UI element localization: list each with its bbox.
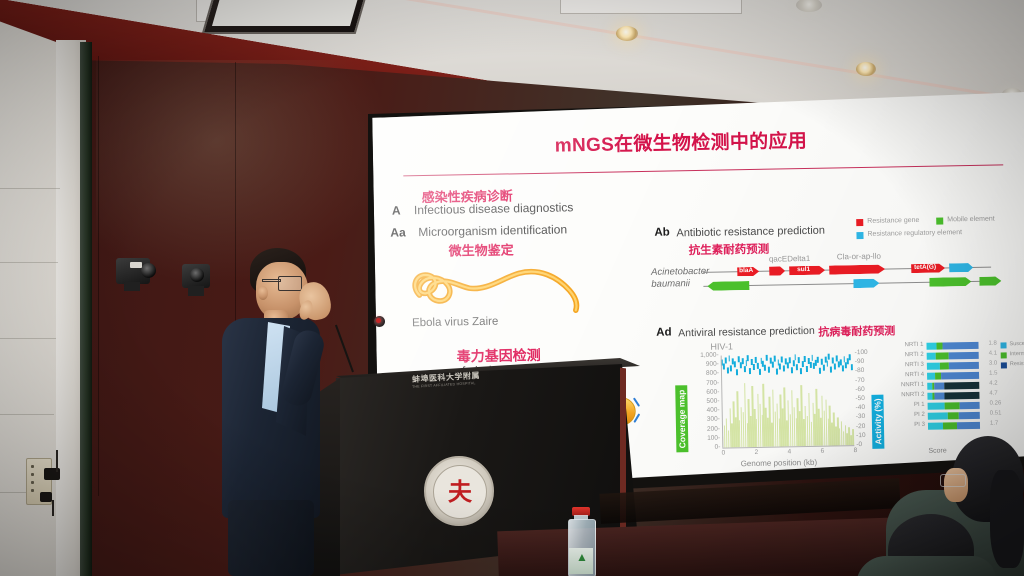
activity-point [773, 355, 775, 361]
section-aa-tag: Aa [390, 225, 406, 239]
coverage-y-tick: 300- [680, 416, 720, 424]
resistance-bar-segment [940, 362, 949, 369]
resistance-bar-segment [945, 402, 960, 409]
activity-point [843, 356, 845, 362]
coverage-y-tick: 1,000- [679, 352, 719, 360]
activity-point [781, 356, 783, 362]
activity-point [741, 358, 743, 364]
activity-y-tick: -90 [855, 358, 869, 365]
resistance-row-label: PI 1 [894, 402, 925, 409]
resistance-row-value: 3.0 [989, 361, 997, 367]
activity-y-tick: -30 [856, 413, 870, 420]
resistance-bar-segment [960, 402, 980, 409]
gene-reg-bot-1 [853, 279, 879, 288]
ebola-virus-illustration [407, 254, 588, 319]
resistance-bar-segment [934, 382, 945, 389]
audience-person-1-glasses[interactable] [940, 474, 966, 487]
activity-point [817, 356, 819, 362]
gene-cla [829, 265, 885, 275]
coverage-x-tick: 2 [751, 449, 761, 456]
activity-point [747, 355, 749, 361]
activity-point [796, 364, 798, 370]
activity-point [789, 357, 791, 363]
resistance-bar-segment [927, 373, 935, 380]
resistance-legend-swatch [1000, 342, 1006, 348]
gene-top-label-2: Cla-or-ap-llo [837, 252, 881, 262]
activity-point [849, 354, 851, 360]
activity-point [800, 369, 802, 375]
resistance-row-label: NNRTI 2 [893, 392, 924, 399]
coverage-y-tick: 200- [680, 425, 720, 433]
resistance-bar-segment [926, 343, 937, 350]
ceiling-vent-inner [212, 0, 358, 26]
legend-label-resistance-gene: Resistance gene [867, 217, 919, 225]
resistance-row-value: 1.7 [990, 421, 998, 427]
activity-point [723, 364, 725, 370]
section-ad-english: Antiviral resistance prediction [678, 325, 815, 340]
activity-point [724, 357, 726, 363]
coverage-x-tick: 8 [850, 447, 860, 454]
resistance-row-label: PI 3 [894, 422, 925, 429]
coverage-chart-title: HIV-1 [710, 341, 733, 351]
ebola-caption: Ebola virus Zaire [412, 316, 499, 330]
resistance-row-value: 1.5 [989, 371, 997, 377]
resistance-legend-label: Resistant [1010, 361, 1024, 367]
coverage-y-tick: 0- [680, 444, 720, 452]
podium-emblem-mark: 夫 [448, 472, 472, 507]
downlight-2 [856, 62, 876, 76]
wall-panel-line-2 [0, 262, 58, 263]
power-plug-2 [40, 492, 52, 502]
activity-point [759, 369, 761, 375]
gene-top-label-1: qacEDelta1 [769, 254, 811, 264]
speaker-ear [258, 286, 268, 300]
section-aa-english: Microorganism identification [418, 222, 567, 239]
resistance-bar-segment [957, 422, 980, 429]
activity-point [823, 364, 825, 370]
bottle-logo-icon: ▲ [576, 550, 588, 564]
resistance-bar-xlabel: Score [928, 447, 946, 454]
activity-point [727, 367, 729, 373]
activity-y-tick: -40 [856, 404, 870, 411]
activity-point [811, 355, 813, 361]
activity-point [745, 360, 747, 366]
section-a-tag: A [392, 203, 401, 217]
coverage-y-tick: 600- [679, 388, 719, 396]
coverage-x-axis-label: Genome position (kb) [741, 458, 818, 468]
activity-point [830, 366, 832, 372]
activity-point [755, 357, 757, 363]
resistance-bar-segment [928, 412, 948, 419]
resistance-row-label: NRTI 1 [892, 342, 923, 349]
wall-camera-left-mount [124, 282, 140, 291]
resistance-bar-segment [949, 362, 979, 370]
activity-y-tick: -50 [855, 395, 869, 402]
activity-point [730, 365, 732, 371]
coverage-y-tick: 100- [680, 434, 720, 442]
slide-title: mNGS在微生物检测中的应用 [555, 126, 808, 158]
activity-point [738, 356, 740, 362]
resistance-legend-swatch [1001, 352, 1007, 358]
activity-point [772, 362, 774, 368]
resistance-bar-segment [943, 342, 979, 350]
activity-point [851, 364, 853, 370]
outlet-hole-1 [31, 465, 34, 468]
activity-point [802, 361, 804, 367]
coverage-y-tick: 500- [679, 398, 719, 406]
section-ab-chinese: 抗生素耐药预测 [689, 241, 770, 258]
gene-blaA-label: blaA [739, 267, 753, 274]
ceiling-panel-right [560, 0, 742, 14]
resistance-row-label: NRTI 2 [893, 352, 924, 359]
resistance-row-value: 1.8 [988, 341, 996, 347]
resistance-row-label: NRTI 4 [893, 372, 924, 379]
outlet-hole-2 [31, 473, 34, 476]
speaker-glasses-arm [262, 279, 281, 282]
section-ab-english: Antibiotic resistance prediction [676, 225, 825, 240]
activity-point [749, 368, 751, 374]
activity-y-axis-label: Activity (%) [871, 394, 884, 449]
resistance-bar-segment [947, 412, 959, 419]
power-cable-1 [56, 450, 58, 472]
resistance-legend-label: Susceptible [1009, 341, 1024, 348]
activity-point [804, 356, 806, 362]
resistance-bar-segment [945, 382, 980, 390]
gene-sul1-label: sul1 [797, 266, 810, 273]
wall-camera-right-mount [188, 286, 204, 296]
activity-point [794, 354, 796, 360]
resistance-row-label: NRTI 3 [893, 362, 924, 369]
activity-point [791, 367, 793, 373]
activity-y-tick: -60 [855, 386, 869, 393]
wall-seam-2 [98, 56, 99, 496]
activity-point [764, 365, 766, 371]
activity-point [728, 355, 730, 361]
activity-point [766, 355, 768, 361]
coverage-y-tick: 400- [680, 407, 720, 415]
section-a-english: Infectious disease diagnostics [414, 200, 574, 217]
coverage-x-tick: 4 [784, 448, 794, 455]
activity-y-ticks: -100-90-80-70-60-50-40-30-20-10-0 [672, 341, 886, 345]
activity-point [826, 361, 828, 367]
door-jamb [80, 42, 92, 576]
power-cable-2 [52, 500, 54, 516]
resistance-legend-swatch [1001, 362, 1007, 368]
resistance-bar-segment [936, 352, 949, 359]
organism-name-line1: Acinetobacter [651, 266, 709, 278]
activity-point [783, 365, 785, 371]
section-ab-tag: Ab [654, 226, 670, 238]
legend-swatch-regulatory [856, 232, 863, 239]
wall-camera-right-lens [190, 268, 204, 282]
coverage-y-tick: 700- [679, 379, 719, 387]
coverage-plot-area [721, 353, 855, 447]
microphone-indicator [376, 318, 381, 323]
resistance-legend-label: Intermediate [1010, 351, 1024, 358]
activity-y-tick: -100 [855, 349, 869, 356]
resistance-row-value: 4.1 [989, 351, 997, 357]
outlet-hole-3 [31, 481, 34, 484]
legend-swatch-resistance-gene [856, 219, 863, 226]
activity-point [768, 366, 770, 372]
resistance-bar-segment [945, 392, 980, 400]
coverage-chart: HIV-1 Coverage map Activity (%) 1,000-90… [672, 341, 888, 471]
activity-point [787, 362, 789, 368]
gene-mobile-1 [707, 281, 749, 291]
resistance-bar-segment [959, 412, 980, 419]
activity-point [792, 360, 794, 366]
gene-tetAG-label: tetA(G) [914, 264, 936, 271]
activity-point [842, 365, 844, 371]
legend-label-mobile-element: Mobile element [947, 216, 995, 224]
gene-mobile-3 [979, 276, 1001, 285]
activity-point [736, 369, 738, 375]
resistance-bar-segment [934, 392, 945, 399]
activity-point [753, 364, 755, 370]
activity-line [721, 353, 855, 447]
legend-swatch-mobile-element [936, 217, 943, 224]
resistance-bar-segment [928, 402, 946, 409]
coverage-x-ticks: 02468 [672, 341, 886, 345]
wall-camera-left-label [130, 262, 142, 268]
resistance-bar-segment [949, 352, 979, 360]
resistance-row-value: 0.51 [990, 410, 1002, 416]
activity-point [743, 366, 745, 372]
activity-point [776, 368, 778, 374]
activity-point [757, 363, 759, 369]
gene-qac [769, 266, 785, 275]
coverage-y-tick: 900- [679, 361, 719, 369]
activity-point [734, 361, 736, 367]
audience-person-1-hair [990, 470, 1024, 568]
outlet-hole-4 [31, 489, 34, 492]
activity-y-tick: -20 [856, 422, 870, 429]
section-ad-tag: Ad [656, 326, 672, 338]
activity-point [798, 358, 800, 364]
section-ad-chinese: 抗病毒耐药预测 [818, 322, 895, 339]
coverage-y-ticks: 1,000-900-800-700-600-500-400-300-200-10… [672, 341, 886, 345]
downlight-1 [616, 26, 638, 41]
resistance-row-label: NNRTI 1 [893, 382, 924, 389]
organism-name-line2: baumanii [651, 278, 690, 290]
resistance-row-label: PI 2 [894, 412, 925, 419]
coverage-x-tick: 6 [817, 448, 827, 455]
gene-mobile-2 [929, 277, 971, 287]
title-underline [403, 164, 1003, 176]
resistance-row-value: 4.7 [989, 391, 997, 397]
resistance-bar-segment [927, 353, 936, 360]
wall-panel-line-4 [0, 414, 54, 415]
activity-point [806, 366, 808, 372]
ceiling-vent [202, 0, 369, 34]
activity-y-tick: -70 [855, 376, 869, 383]
legend-label-regulatory: Resistance regulatory element [867, 229, 962, 238]
wall-panel-line-3 [0, 338, 56, 339]
activity-y-tick: -10 [856, 432, 870, 439]
speaker-glasses-lens [278, 276, 302, 291]
resistance-bar-segment [927, 363, 940, 370]
activity-point [834, 363, 836, 369]
wall-panel-line-1 [0, 188, 60, 189]
activity-point [819, 367, 821, 373]
activity-y-tick: -80 [855, 367, 869, 374]
activity-point [836, 355, 838, 361]
audience-person-2-shoulder [856, 556, 996, 576]
speaker-trousers [228, 500, 314, 576]
resistance-bar-segment [941, 372, 979, 380]
activity-point [779, 363, 781, 369]
resistance-row-value: 0.26 [990, 400, 1002, 406]
lecture-hall-photo: mNGS在微生物检测中的应用 感染性疾病诊断 A Infectious dise… [0, 0, 1024, 576]
activity-point [828, 354, 830, 360]
coverage-x-tick: 0 [718, 449, 728, 456]
gene-reg-top [949, 263, 973, 272]
activity-point [809, 362, 811, 368]
back-wall-sheen [96, 60, 396, 290]
resistance-bar-segment [928, 423, 943, 430]
resistance-row-value: 4.2 [989, 381, 997, 387]
resistance-bar-segment [943, 422, 957, 429]
wall-camera-left-lens [141, 263, 156, 278]
coverage-y-tick: 800- [679, 370, 719, 378]
